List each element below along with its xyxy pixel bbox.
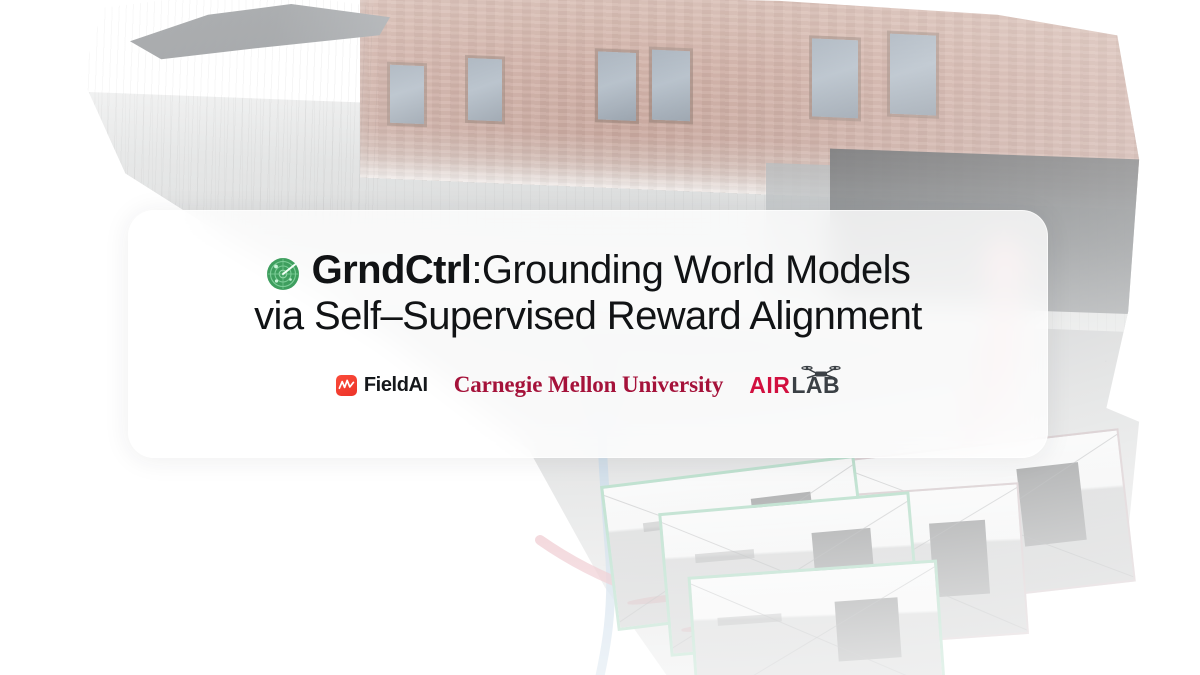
logo-row: FieldAI Carnegie Mellon University AIR bbox=[336, 372, 840, 399]
logo-airlab[interactable]: AIR bbox=[749, 372, 840, 399]
logo-fieldai[interactable]: FieldAI bbox=[336, 374, 428, 397]
waveform-icon bbox=[336, 375, 357, 396]
camera-frame bbox=[687, 559, 946, 675]
title-card: GrndCtrl: Grounding World Models via Sel… bbox=[128, 210, 1048, 458]
logo-airlab-air: AIR bbox=[749, 372, 790, 399]
title-line-1: GrndCtrl: Grounding World Models bbox=[266, 247, 911, 293]
title-card-stage: GrndCtrl: Grounding World Models via Sel… bbox=[0, 0, 1200, 675]
logo-airlab-lab: LAB bbox=[791, 372, 840, 399]
radar-icon bbox=[266, 255, 300, 289]
title-separator: : bbox=[471, 247, 482, 293]
project-name: GrndCtrl bbox=[312, 247, 472, 293]
title-line-2: via Self–Supervised Reward Alignment bbox=[254, 293, 922, 339]
title-rest: Grounding World Models bbox=[482, 247, 911, 293]
logo-fieldai-label: FieldAI bbox=[364, 374, 428, 397]
logo-cmu[interactable]: Carnegie Mellon University bbox=[454, 372, 724, 398]
drone-icon bbox=[801, 360, 841, 376]
